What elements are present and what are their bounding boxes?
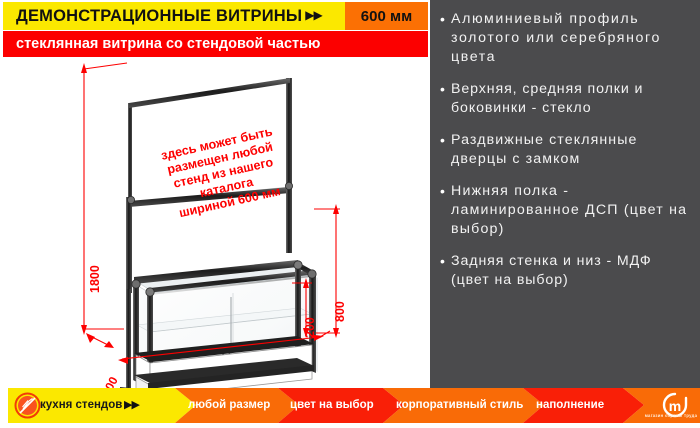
footer-item-4-label[interactable]: корпоративный стиль: [396, 399, 523, 411]
feature-label-4: Нижняя полка - ламинированное ДСП (цвет …: [451, 182, 690, 239]
bullet-icon: •: [440, 80, 451, 118]
showcase-illustration: [0, 57, 430, 388]
feature-label-3: Раздвижные стеклянные дверцы с замком: [451, 131, 690, 169]
page-subtitle: стеклянная витрина со стендовой частью: [3, 36, 320, 52]
dimension-label-case-height: 800: [333, 301, 347, 322]
footer-item-5-label[interactable]: наполнение: [536, 399, 604, 411]
feature-item-5: • Задняя стенка и низ - МДФ (цвет на выб…: [440, 252, 690, 290]
page-title: ДЕМОНСТРАЦИОННЫЕ ВИТРИНЫ: [3, 7, 302, 26]
dimension-label-base-height: 200: [303, 317, 317, 338]
bullet-icon: •: [440, 252, 451, 290]
width-badge: 600 мм: [345, 2, 428, 30]
feature-label-2: Верхняя, средняя полки и боковинки - сте…: [451, 80, 690, 118]
header-subtitle-bar: стеклянная витрина со стендовой частью: [3, 31, 428, 57]
feature-item-4: • Нижняя полка - ламинированное ДСП (цве…: [440, 182, 690, 239]
features-panel: • Алюминиевый профиль золотого или сереб…: [430, 0, 700, 388]
bullet-icon: •: [440, 10, 451, 67]
dimension-label-height: 1800: [88, 265, 102, 293]
feature-item-2: • Верхняя, средняя полки и боковинки - с…: [440, 80, 690, 118]
feature-label-1: Алюминиевый профиль золотого или серебря…: [451, 10, 690, 67]
product-drawing: здесь может быть размещен любой стенд из…: [0, 57, 430, 388]
footer-ribbon: кухня стендов ▶▶ любой размер цвет на вы…: [0, 388, 700, 423]
double-arrow-icon: ▶▶: [305, 8, 321, 22]
footer-item-3-label[interactable]: цвет на выбор: [290, 399, 374, 411]
feature-item-3: • Раздвижные стеклянные дверцы с замком: [440, 131, 690, 169]
svg-text:m: m: [669, 398, 681, 414]
footer-item-1-label[interactable]: кухня стендов: [40, 399, 122, 411]
footer-item-2-label[interactable]: любой размер: [188, 399, 270, 411]
slide-root: ДЕМОНСТРАЦИОННЫЕ ВИТРИНЫ ▶▶ 600 мм стекл…: [0, 0, 700, 428]
kitchen-whisk-icon: [14, 392, 41, 419]
feature-label-5: Задняя стенка и низ - МДФ (цвет на выбор…: [451, 252, 690, 290]
feature-item-1: • Алюминиевый профиль золотого или сереб…: [440, 10, 690, 67]
logo-tagline: магазин охраны труда: [643, 413, 699, 418]
width-badge-label: 600 мм: [361, 8, 412, 25]
header-title-bar: ДЕМОНСТРАЦИОННЫЕ ВИТРИНЫ ▶▶: [3, 2, 345, 30]
bullet-icon: •: [440, 182, 451, 239]
footer-double-arrow-icon: ▶▶: [124, 398, 139, 411]
bullet-icon: •: [440, 131, 451, 169]
